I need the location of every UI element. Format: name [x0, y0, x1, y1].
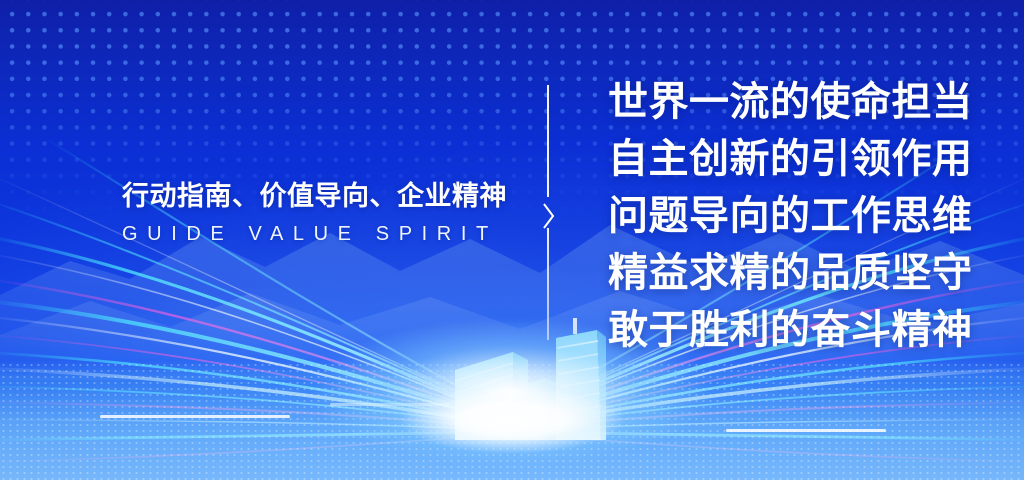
left-text-block: 行动指南、价值导向、企业精神 GUIDE VALUE SPIRIT [122, 176, 522, 246]
building-base-glow-core [362, 375, 662, 465]
slogan-line: 敢于胜利的奋斗精神 [608, 302, 988, 359]
right-slogan-list: 世界一流的使命担当 自主创新的引领作用 问题导向的工作思维 精益求精的品质坚守 … [608, 74, 988, 359]
left-subtitle: GUIDE VALUE SPIRIT [122, 223, 522, 246]
slogan-line: 问题导向的工作思维 [608, 188, 988, 245]
banner-stage: 行动指南、价值导向、企业精神 GUIDE VALUE SPIRIT 世界一流的使… [0, 0, 1024, 480]
slogan-line: 精益求精的品质坚守 [608, 245, 988, 302]
chevron-right-icon [543, 203, 555, 229]
slogan-line: 自主创新的引领作用 [608, 131, 988, 188]
slogan-line: 世界一流的使命担当 [608, 74, 988, 131]
left-title: 行动指南、价值导向、企业精神 [122, 176, 522, 216]
